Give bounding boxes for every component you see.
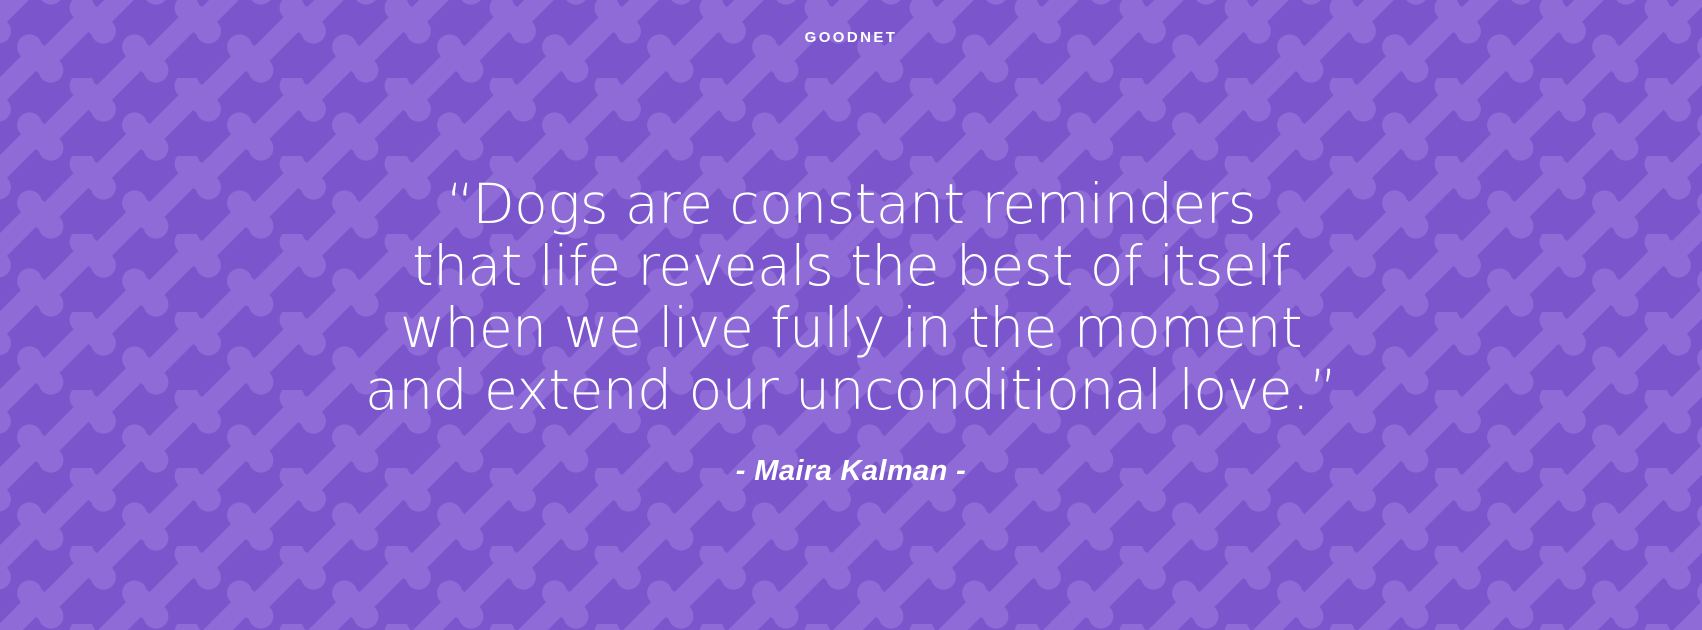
quote-line-3: when we live fully in the moment	[0, 297, 1702, 359]
goodnet-logo: GOODNET	[805, 30, 898, 45]
quote-line-1: “Dogs are constant reminders	[0, 173, 1702, 235]
quote-line-2: that life reveals the best of itself	[0, 235, 1702, 297]
quote-block: “Dogs are constant reminders that life r…	[0, 173, 1702, 488]
quote-graphic: GOODNET “Dogs are constant reminders tha…	[0, 0, 1702, 630]
content-layer: GOODNET “Dogs are constant reminders tha…	[0, 0, 1702, 630]
quote-attribution: - Maira Kalman -	[0, 455, 1702, 488]
quote-line-4: and extend our unconditional love.”	[0, 359, 1702, 421]
